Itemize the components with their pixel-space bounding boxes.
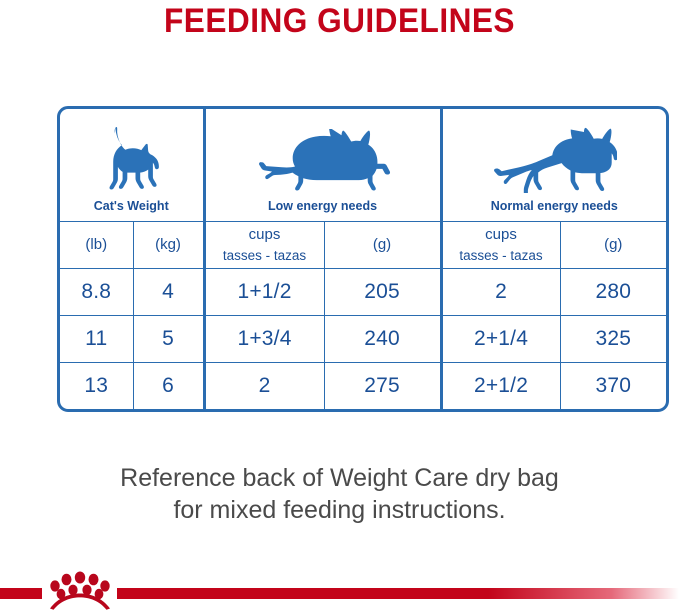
unit-sub: tasses - tazas — [206, 246, 324, 265]
footer-note-line-2: for mixed feeding instructions. — [0, 494, 679, 526]
unit-cell-low-cups: cups tasses - tazas — [204, 222, 324, 269]
cell-low-grams: 275 — [324, 363, 441, 410]
cell-normal-cups: 2 — [441, 269, 560, 316]
page-title: FEEDING GUIDELINES — [24, 2, 655, 41]
footer-note: Reference back of Weight Care dry bag fo… — [0, 462, 679, 526]
table-units-row: (lb) (kg) cups tasses - tazas (g) cups t… — [60, 222, 666, 269]
cell-low-grams: 240 — [324, 316, 441, 363]
cell-low-cups: 1+3/4 — [204, 316, 324, 363]
unit-main: (lb) — [60, 235, 133, 256]
cell-low-cups: 1+1/2 — [204, 269, 324, 316]
lying-cat-icon — [255, 129, 391, 193]
royal-canin-crown-icon — [46, 570, 114, 610]
unit-main: (g) — [561, 235, 667, 256]
feeding-guidelines-table: Cat's Weight Low energy needs — [57, 106, 669, 412]
walking-cat-icon — [491, 127, 617, 193]
brand-bar-right-segment — [117, 588, 679, 599]
unit-cell-normal-grams: (g) — [560, 222, 666, 269]
standing-cat-icon — [100, 125, 162, 193]
unit-main: cups — [443, 225, 560, 246]
header-label: Cat's Weight — [94, 200, 169, 214]
table-row: 8.8 4 1+1/2 205 2 280 — [60, 269, 666, 316]
unit-cell-kg: (kg) — [133, 222, 204, 269]
header-label: Normal energy needs — [491, 200, 618, 214]
table-row: 13 6 2 275 2+1/2 370 — [60, 363, 666, 410]
cell-normal-cups: 2+1/4 — [441, 316, 560, 363]
unit-sub: tasses - tazas — [443, 246, 560, 265]
unit-main: (kg) — [134, 235, 203, 256]
header-cell-cats-weight: Cat's Weight — [60, 109, 204, 222]
unit-main: (g) — [325, 235, 440, 256]
cell-normal-grams: 280 — [560, 269, 666, 316]
table-header-row: Cat's Weight Low energy needs — [60, 109, 666, 222]
header-cell-normal-energy: Normal energy needs — [441, 109, 666, 222]
unit-cell-low-grams: (g) — [324, 222, 441, 269]
footer-note-line-1: Reference back of Weight Care dry bag — [0, 462, 679, 494]
unit-cell-normal-cups: cups tasses - tazas — [441, 222, 560, 269]
cell-normal-grams: 370 — [560, 363, 666, 410]
cell-normal-grams: 325 — [560, 316, 666, 363]
cell-weight-lb: 13 — [60, 363, 133, 410]
cell-low-cups: 2 — [204, 363, 324, 410]
cell-low-grams: 205 — [324, 269, 441, 316]
unit-main: cups — [206, 225, 324, 246]
cell-normal-cups: 2+1/2 — [441, 363, 560, 410]
unit-cell-lb: (lb) — [60, 222, 133, 269]
cell-weight-kg: 5 — [133, 316, 204, 363]
table-row: 11 5 1+3/4 240 2+1/4 325 — [60, 316, 666, 363]
brand-bar-left-segment — [0, 588, 42, 599]
cell-weight-kg: 6 — [133, 363, 204, 410]
cell-weight-lb: 11 — [60, 316, 133, 363]
header-cell-low-energy: Low energy needs — [204, 109, 441, 222]
header-label: Low energy needs — [268, 200, 377, 214]
cell-weight-kg: 4 — [133, 269, 204, 316]
cell-weight-lb: 8.8 — [60, 269, 133, 316]
